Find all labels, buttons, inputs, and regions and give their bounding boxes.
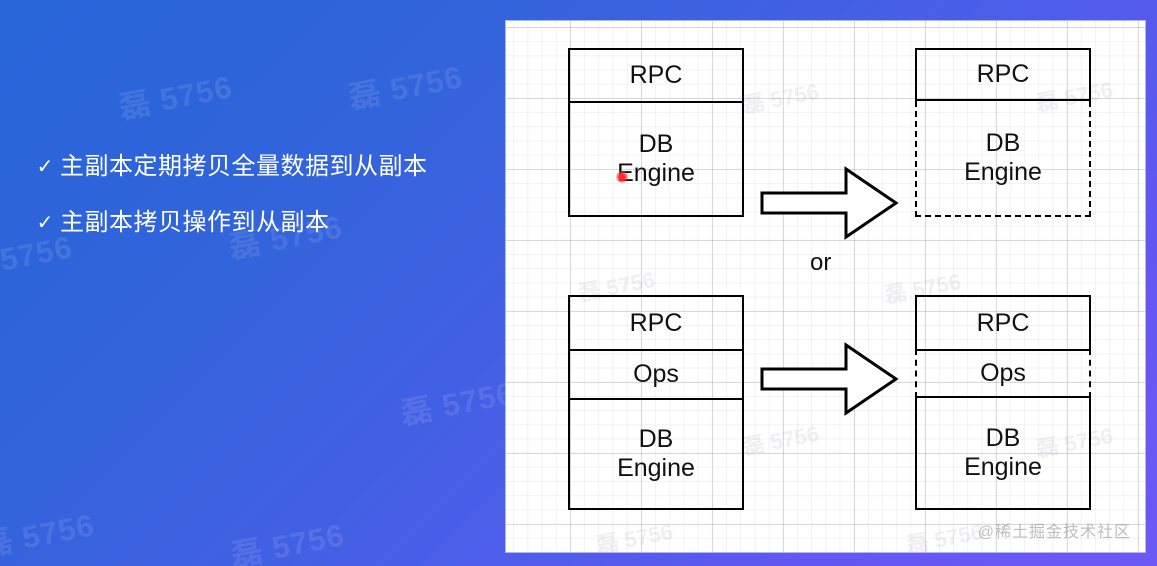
background-watermark: 磊 5756: [227, 509, 348, 566]
bullet-item: ✓ 主副本定期拷贝全量数据到从副本: [30, 150, 480, 184]
bullet-item: ✓ 主副本拷贝操作到从副本: [30, 206, 480, 240]
arrow-right-bottom: [760, 341, 900, 417]
segment-label: DB Engine: [964, 424, 1042, 482]
node-segment-ops-dashed[interactable]: Ops: [915, 349, 1091, 398]
node-segment-rpc[interactable]: RPC: [915, 295, 1091, 349]
cursor-pointer-dot: [616, 171, 628, 183]
bullet-list: ✓ 主副本定期拷贝全量数据到从副本 ✓ 主副本拷贝操作到从副本: [30, 150, 480, 262]
diagram-panel: 磊 5756 磊 5756 磊 5756 磊 5756 磊 5756 磊 575…: [506, 21, 1145, 552]
segment-label: RPC: [630, 61, 683, 90]
segment-label: RPC: [977, 309, 1030, 338]
background-watermark: 磊 5756: [345, 51, 466, 117]
node-segment-db-engine[interactable]: DB Engine: [915, 398, 1091, 510]
background-watermark: 磊 5756: [115, 61, 236, 127]
segment-label: DB Engine: [964, 129, 1042, 187]
slide-root: 磊 5756 磊 5756 磊 5756 磊 5756 磊 5756 磊 575…: [0, 0, 1157, 566]
node-segment-rpc[interactable]: RPC: [568, 295, 744, 349]
node-top-right[interactable]: RPC DB Engine: [915, 48, 1091, 217]
node-top-left[interactable]: RPC DB Engine: [568, 48, 744, 217]
bullet-label: 主副本拷贝操作到从副本: [60, 206, 330, 240]
node-segment-db-engine[interactable]: DB Engine: [568, 398, 744, 510]
panel-watermark: 磊 5756: [740, 74, 822, 120]
arrow-right-top: [760, 165, 900, 241]
panel-watermark: 磊 5756: [740, 416, 822, 462]
or-label: or: [810, 249, 831, 277]
background-watermark: 磊 5756: [0, 499, 98, 565]
background-watermark: 磊 5756: [397, 367, 518, 433]
panel-watermark: 磊 5756: [594, 514, 676, 552]
node-segment-db-engine[interactable]: DB Engine: [568, 101, 744, 217]
segment-label: DB Engine: [617, 425, 695, 483]
credit-watermark: @稀土掘金技术社区: [978, 518, 1131, 542]
node-segment-rpc[interactable]: RPC: [568, 48, 744, 101]
checkmark-icon: ✓: [30, 206, 60, 240]
node-segment-ops[interactable]: Ops: [568, 349, 744, 398]
node-bottom-right[interactable]: RPC Ops DB Engine: [915, 295, 1091, 510]
node-segment-rpc[interactable]: RPC: [915, 48, 1091, 101]
bullet-label: 主副本定期拷贝全量数据到从副本: [60, 150, 428, 184]
segment-label: Ops: [633, 360, 679, 389]
segment-label: RPC: [630, 309, 683, 338]
panel-watermark: 磊 5756: [904, 514, 986, 552]
segment-label: Ops: [980, 359, 1026, 388]
segment-label: RPC: [977, 60, 1030, 89]
segment-label: DB Engine: [617, 130, 695, 188]
node-segment-db-engine-dashed[interactable]: DB Engine: [915, 101, 1091, 217]
checkmark-icon: ✓: [30, 150, 60, 184]
node-bottom-left[interactable]: RPC Ops DB Engine: [568, 295, 744, 510]
